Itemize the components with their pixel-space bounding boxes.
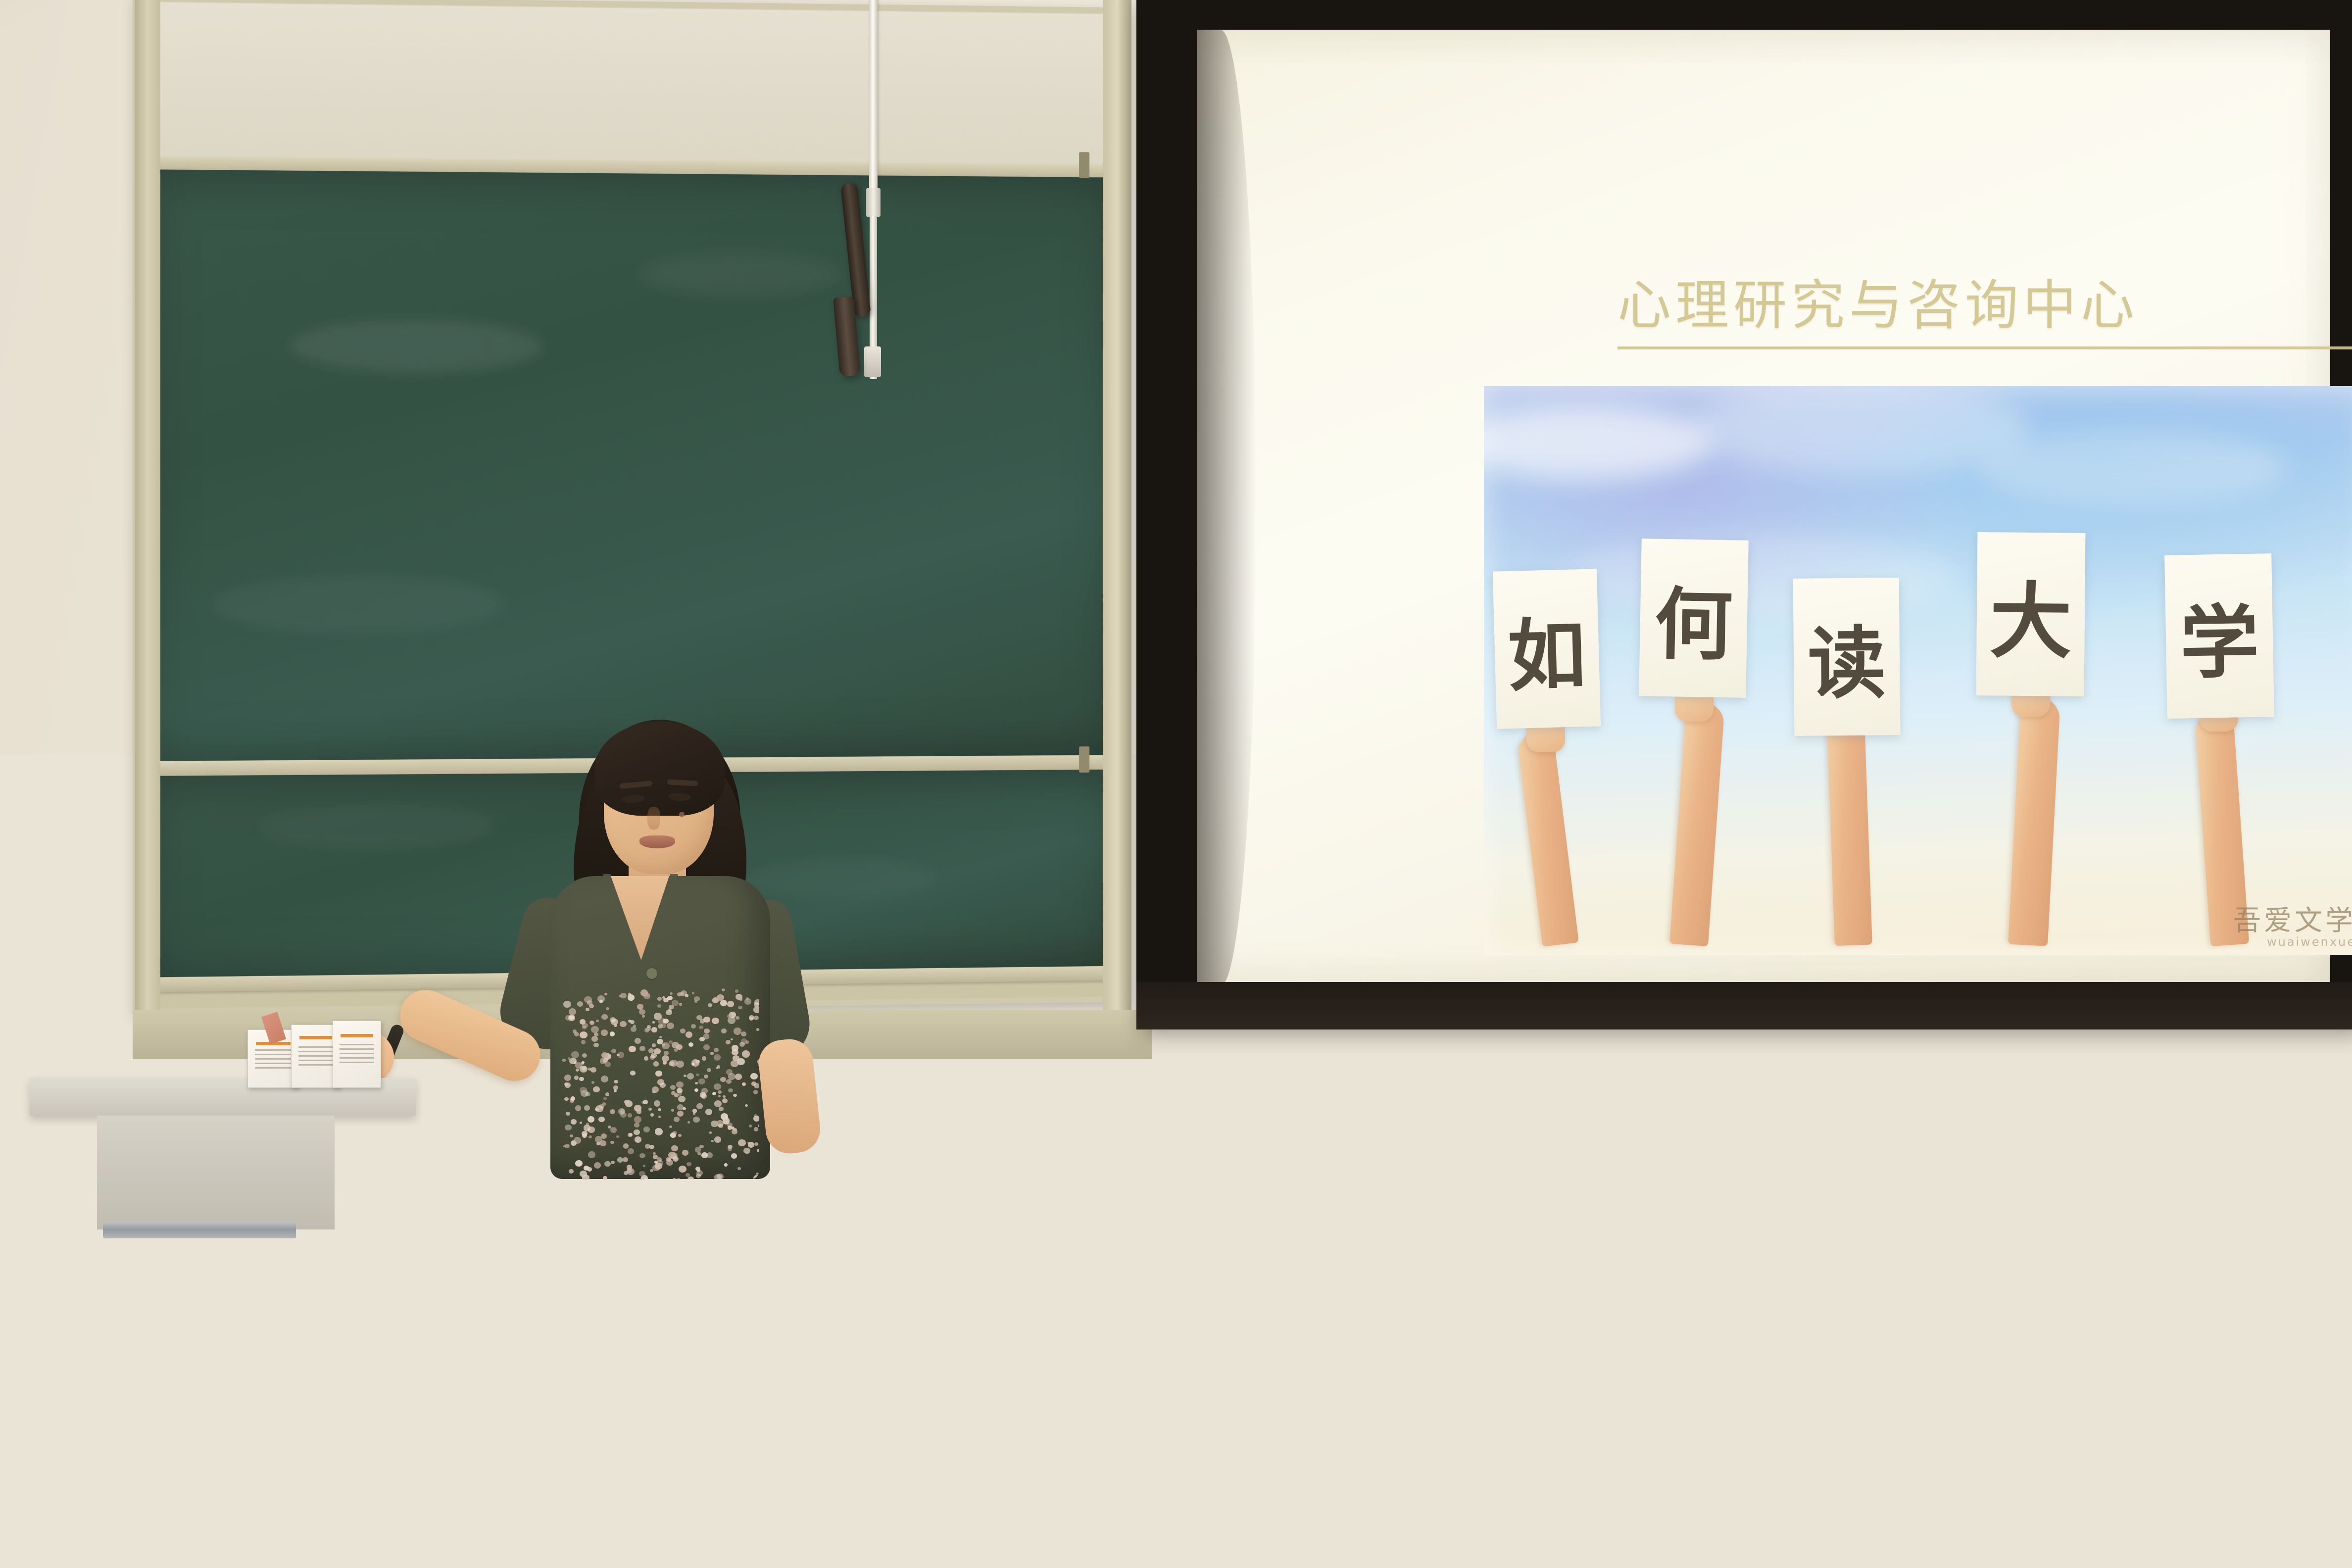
audience <box>0 1178 2352 1568</box>
photo-arm <box>1669 702 1725 946</box>
blackboard-panel-upper <box>142 169 1118 761</box>
microphone-pole <box>869 0 878 193</box>
lectern-drawer-slides <box>371 1138 891 1174</box>
microphone-clip <box>864 346 881 377</box>
lectern-top <box>366 1087 896 1123</box>
glasses-icon <box>1423 1299 1459 1326</box>
microphone-joint <box>866 188 881 217</box>
glasses-icon <box>2028 1274 2067 1303</box>
slide-org-title: 心理研究与咨询中心 <box>1617 262 2352 349</box>
photo-card-4: 大 <box>1976 532 2086 696</box>
photo-watermark: 吾爱文学 wuaiwenxue <box>2233 907 2352 948</box>
screen-surface: 心理研究与咨询中心 <box>1197 30 2330 986</box>
glasses-icon <box>1677 1274 1715 1303</box>
nose <box>647 807 660 830</box>
photo-arm <box>2008 697 2060 946</box>
mouth <box>639 835 675 848</box>
screen-bottom-bar <box>1136 982 2352 1029</box>
photo-card-1: 如 <box>1493 569 1601 729</box>
classroom-lecture-photo: 心理研究与咨询中心 <box>0 0 2352 1568</box>
photo-card-2: 何 <box>1639 539 1749 698</box>
blackboard-right-edge <box>1103 0 1131 1020</box>
paper-sheet <box>1471 1468 1642 1568</box>
slide-photo: 如 何 读 大 学 吾爱文学 wu <box>1484 386 2352 955</box>
list-item <box>1247 1356 1435 1568</box>
blackboard-left-edge <box>135 0 160 1015</box>
projection-screen: 心理研究与咨询中心 <box>1136 0 2352 1028</box>
mole <box>679 812 685 817</box>
hair-top <box>595 722 725 816</box>
list-item <box>2247 1366 2352 1568</box>
bottle-cap <box>1491 1372 1512 1389</box>
desk-right-top <box>891 1082 1232 1120</box>
water-bottle <box>1485 1386 1516 1460</box>
desk-box-3 <box>333 1021 381 1088</box>
photo-card-5: 学 <box>2164 553 2274 719</box>
slide-content: 心理研究与咨询中心 <box>1276 79 2352 1010</box>
list-item <box>1628 1183 1861 1568</box>
photo-arm <box>1517 731 1579 947</box>
shirt-button <box>646 968 657 979</box>
list-item <box>584 1317 782 1568</box>
photo-card-3: 读 <box>1793 578 1901 736</box>
